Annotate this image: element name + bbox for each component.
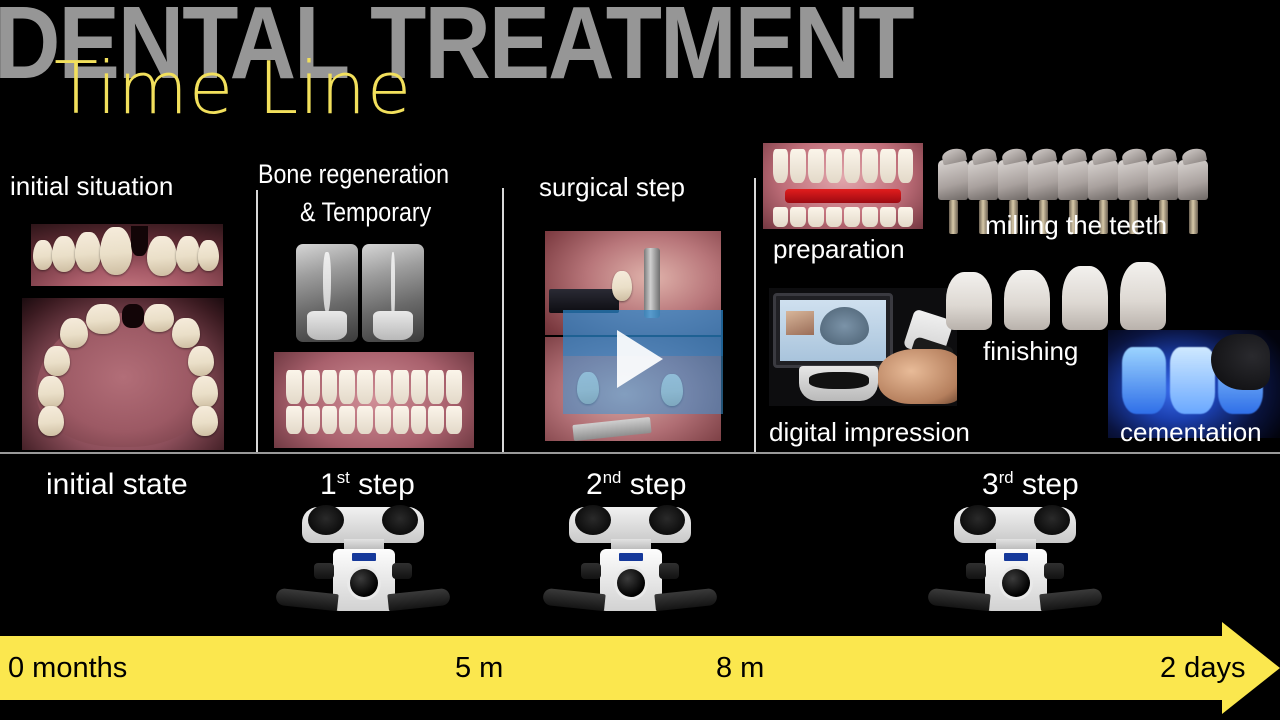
zeiss-logo	[619, 553, 643, 561]
column-label-surgical-step: surgical step	[539, 173, 685, 201]
timeline-mark-2: 8 m	[716, 652, 764, 685]
timeline-mark-1: 5 m	[455, 652, 503, 685]
photo-xray-left	[296, 244, 358, 342]
step-2-ordinal-suffix: nd	[603, 468, 622, 487]
step-label-1: 1st step	[320, 468, 415, 502]
photo-occlusal-view	[22, 298, 224, 450]
step-1-ordinal-suffix: st	[337, 468, 350, 487]
caption-preparation: preparation	[773, 235, 905, 263]
caption-finishing: finishing	[983, 337, 1078, 365]
column-label-bone-regeneration-line2: & Temporary	[300, 198, 541, 227]
timeline-arrow-body	[0, 636, 1232, 700]
timeline-separator-rule	[0, 452, 1280, 454]
step-1-word: step	[358, 468, 415, 501]
caption-digital-impression: digital impression	[769, 418, 970, 446]
column-divider-2	[502, 188, 504, 452]
step-2-number: 2	[586, 468, 603, 501]
step-label-initial-state: initial state	[46, 468, 188, 502]
photo-front-teeth-gap	[31, 224, 223, 286]
photo-finishing-crowns	[946, 262, 1166, 330]
step-1-number: 1	[320, 468, 337, 501]
column-label-initial-situation: initial situation	[10, 172, 173, 200]
step-3-ordinal-suffix: rd	[999, 468, 1014, 487]
timeline-arrow: 0 months 5 m 8 m 2 days	[0, 636, 1280, 700]
timeline-mark-3: 2 days	[1160, 652, 1245, 685]
step-3-number: 3	[982, 468, 999, 501]
zeiss-logo	[352, 553, 376, 561]
photo-temporary-crowns	[274, 352, 474, 448]
page-subtitle: Time Line	[54, 52, 412, 124]
step-label-2: 2nd step	[586, 468, 686, 502]
photo-xray-right	[362, 244, 424, 342]
column-divider-1	[256, 190, 258, 452]
infographic-canvas: DENTAL TREATMENT Time Line initial situa…	[0, 0, 1280, 720]
play-triangle-icon[interactable]	[617, 330, 663, 388]
photo-preparation	[763, 143, 923, 229]
zeiss-logo	[1004, 553, 1028, 561]
caption-milling: milling the teeth	[985, 211, 1167, 239]
column-divider-3	[754, 178, 756, 452]
step-label-3: 3rd step	[982, 468, 1079, 502]
step-2-word: step	[630, 468, 687, 501]
timeline-mark-0: 0 months	[8, 652, 127, 685]
caption-cementation: cementation	[1120, 418, 1262, 446]
microscope-step-3	[930, 505, 1100, 630]
photo-digital-impression	[769, 288, 957, 406]
column-label-bone-regeneration-line1: Bone regeneration	[258, 160, 516, 189]
step-3-word: step	[1022, 468, 1079, 501]
microscope-step-2	[545, 505, 715, 630]
microscope-step-1	[278, 505, 448, 630]
